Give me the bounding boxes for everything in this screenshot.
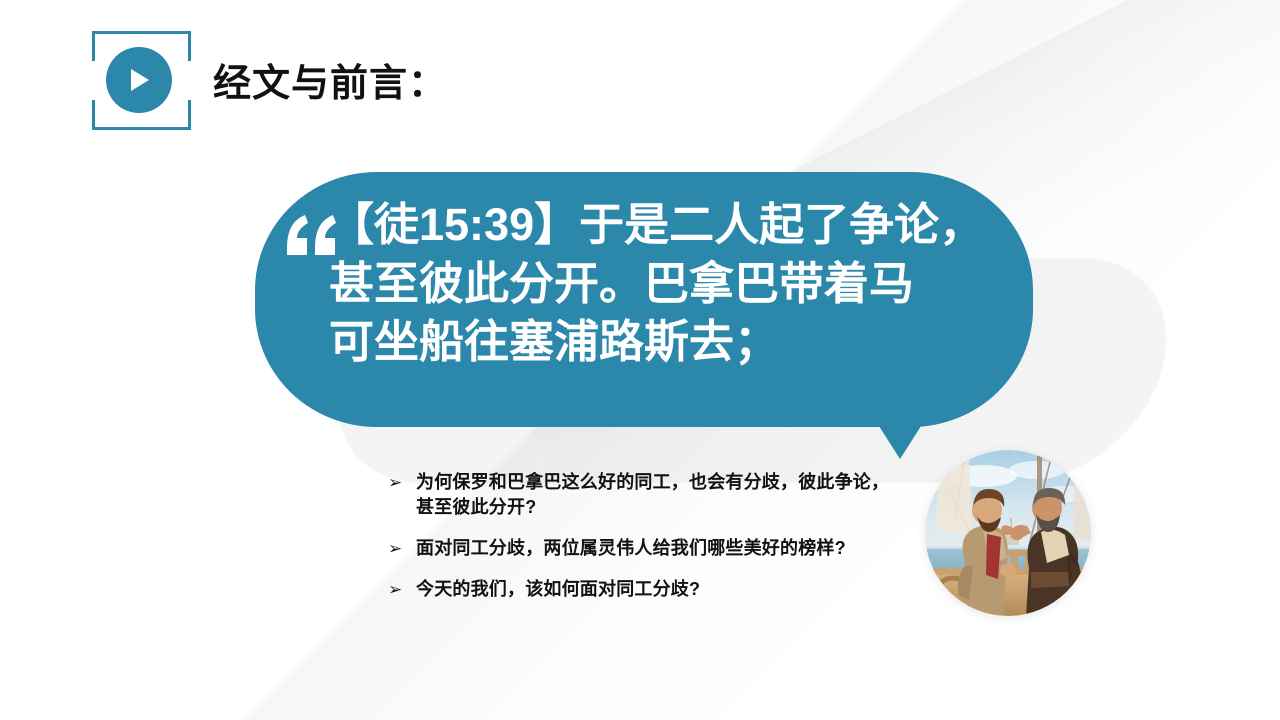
list-item: ➢ 今天的我们，该如何面对同工分歧? [388,577,898,602]
frame-edge-top [92,31,191,34]
arrow-bullet-icon: ➢ [388,577,416,602]
frame-edge-right-bottom [188,100,191,130]
quote-line-2: 甚至彼此分开。巴拿巴带着马 [329,255,1029,314]
list-item: ➢ 面对同工分歧，两位属灵伟人给我们哪些美好的榜样? [388,536,898,561]
play-icon[interactable] [106,47,172,113]
quote-bubble: 【徒15:39】于是二人起了争论， 甚至彼此分开。巴拿巴带着马 可坐船往塞浦路斯… [255,172,1033,427]
page-title: 经文与前言： [213,52,447,107]
arrow-bullet-icon: ➢ [388,536,416,561]
frame-edge-left-top [92,31,95,61]
arrow-bullet-icon: ➢ [388,470,416,495]
frame-edge-bottom [92,127,191,130]
quote-line-1: 【徒15:39】于是二人起了争论， [329,196,1029,255]
quote-bubble-tail [877,423,923,459]
frame-edge-left-bottom [92,100,95,130]
list-item-label: 今天的我们，该如何面对同工分歧? [416,577,898,602]
quote-text: 【徒15:39】于是二人起了争论， 甚至彼此分开。巴拿巴带着马 可坐船往塞浦路斯… [329,196,1029,372]
list-item-label: 为何保罗和巴拿巴这么好的同工，也会有分歧，彼此争论，甚至彼此分开? [416,470,898,520]
quote-line-3: 可坐船往塞浦路斯去； [329,313,1029,372]
frame-edge-right-top [188,31,191,61]
illustration-image [925,450,1091,616]
slide-canvas: 经文与前言： 【徒15:39】于是二人起了争论， 甚至彼此分开。巴拿巴带着马 可… [0,0,1280,720]
question-list: ➢ 为何保罗和巴拿巴这么好的同工，也会有分歧，彼此争论，甚至彼此分开? ➢ 面对… [388,470,898,602]
slide-header: 经文与前言： [0,0,1280,150]
list-item: ➢ 为何保罗和巴拿巴这么好的同工，也会有分歧，彼此争论，甚至彼此分开? [388,470,898,520]
list-item-label: 面对同工分歧，两位属灵伟人给我们哪些美好的榜样? [416,536,898,561]
